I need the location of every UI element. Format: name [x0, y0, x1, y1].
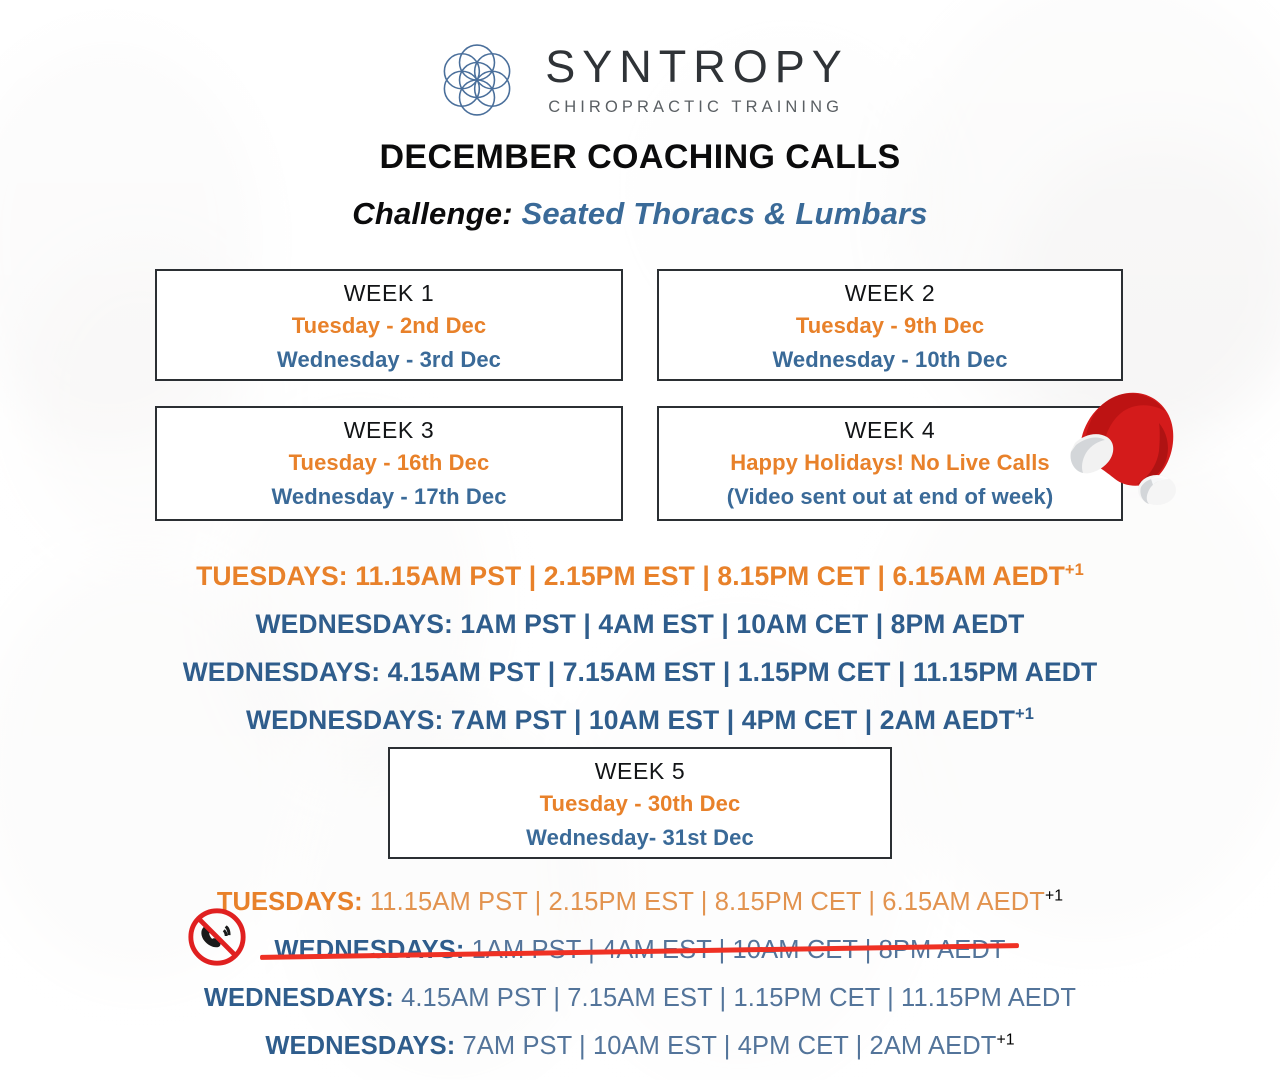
week-card-4: WEEK 4 Happy Holidays! No Live Calls (Vi… — [657, 406, 1123, 521]
schedule-times: 11.15AM PST | 2.15PM EST | 8.15PM CET | … — [363, 888, 1045, 916]
schedule-day: WEDNESDAYS: — [246, 705, 443, 735]
challenge-value: Seated Thoracs & Lumbars — [522, 196, 928, 231]
schedule-times-top: TUESDAYS: 11.15AM PST | 2.15PM EST | 8.1… — [0, 552, 1280, 744]
seed-of-life-icon — [431, 34, 523, 126]
week-label: WEEK 2 — [659, 278, 1121, 309]
week-label: WEEK 5 — [390, 756, 890, 787]
schedule-times: 7AM PST | 10AM EST | 4PM CET | 2AM AEDT — [443, 705, 1015, 735]
week-wednesday: Wednesday - 3rd Dec — [157, 343, 621, 376]
brand-lockup: SYNTROPY CHIROPRACTIC TRAINING — [0, 34, 1280, 126]
plus-one-superscript: +1 — [996, 1032, 1014, 1049]
week-label: WEEK 1 — [157, 278, 621, 309]
schedule-day: WEDNESDAYS: — [265, 1032, 455, 1060]
schedule-row: WEDNESDAYS: 1AM PST | 4AM EST | 10AM CET… — [0, 600, 1280, 648]
week-wednesday: (Video sent out at end of week) — [659, 480, 1121, 513]
schedule-day: TUESDAYS: — [196, 561, 348, 591]
flyer-canvas: SYNTROPY CHIROPRACTIC TRAINING DECEMBER … — [0, 0, 1280, 1080]
week-label: WEEK 3 — [157, 415, 621, 446]
page-title: DECEMBER COACHING CALLS — [0, 138, 1280, 177]
plus-one-superscript: +1 — [1045, 888, 1063, 905]
schedule-day: WEDNESDAYS: — [183, 657, 380, 687]
week-tuesday: Tuesday - 16th Dec — [157, 446, 621, 480]
week-tuesday: Happy Holidays! No Live Calls — [659, 446, 1121, 480]
schedule-times: 4.15AM PST | 7.15AM EST | 1.15PM CET | 1… — [394, 984, 1076, 1012]
schedule-times: 7AM PST | 10AM EST | 4PM CET | 2AM AEDT — [455, 1032, 996, 1060]
week-label: WEEK 4 — [659, 415, 1121, 446]
schedule-row: WEDNESDAYS: 4.15AM PST | 7.15AM EST | 1.… — [0, 648, 1280, 696]
plus-one-superscript: +1 — [1065, 561, 1084, 579]
week-card-5: WEEK 5 Tuesday - 30th Dec Wednesday- 31s… — [388, 747, 892, 859]
plus-one-superscript: +1 — [1015, 705, 1034, 723]
week-tuesday: Tuesday - 9th Dec — [659, 309, 1121, 343]
schedule-row: WEDNESDAYS: 7AM PST | 10AM EST | 4PM CET… — [0, 1022, 1280, 1070]
schedule-row: WEDNESDAYS: 4.15AM PST | 7.15AM EST | 1.… — [0, 974, 1280, 1022]
challenge-subtitle: Challenge: Seated Thoracs & Lumbars — [0, 196, 1280, 232]
no-call-icon — [186, 906, 248, 968]
week-wednesday: Wednesday - 10th Dec — [659, 343, 1121, 376]
schedule-day: WEDNESDAYS: — [256, 609, 453, 639]
schedule-row: WEDNESDAYS: 7AM PST | 10AM EST | 4PM CET… — [0, 696, 1280, 744]
schedule-row: TUESDAYS: 11.15AM PST | 2.15PM EST | 8.1… — [0, 552, 1280, 600]
week-tuesday: Tuesday - 30th Dec — [390, 787, 890, 821]
schedule-day: WEDNESDAYS: — [204, 984, 394, 1012]
week-wednesday: Wednesday- 31st Dec — [390, 821, 890, 854]
brand-tagline: CHIROPRACTIC TRAINING — [548, 98, 843, 117]
schedule-times: 1AM PST | 4AM EST | 10AM CET | 8PM AEDT — [453, 609, 1025, 639]
schedule-times: 1AM PST | 4AM EST | 10AM CET | 8PM AEDT — [464, 936, 1005, 964]
week-card-2: WEEK 2 Tuesday - 9th Dec Wednesday - 10t… — [657, 269, 1123, 381]
week-wednesday: Wednesday - 17th Dec — [157, 480, 621, 513]
schedule-times: 4.15AM PST | 7.15AM EST | 1.15PM CET | 1… — [380, 657, 1097, 687]
week-card-1: WEEK 1 Tuesday - 2nd Dec Wednesday - 3rd… — [155, 269, 623, 381]
schedule-times: 11.15AM PST | 2.15PM EST | 8.15PM CET | … — [348, 561, 1065, 591]
schedule-day: WEDNESDAYS: — [274, 936, 464, 964]
week-tuesday: Tuesday - 2nd Dec — [157, 309, 621, 343]
challenge-label: Challenge: — [352, 196, 512, 231]
week-card-3: WEEK 3 Tuesday - 16th Dec Wednesday - 17… — [155, 406, 623, 521]
brand-name: SYNTROPY — [545, 44, 849, 89]
